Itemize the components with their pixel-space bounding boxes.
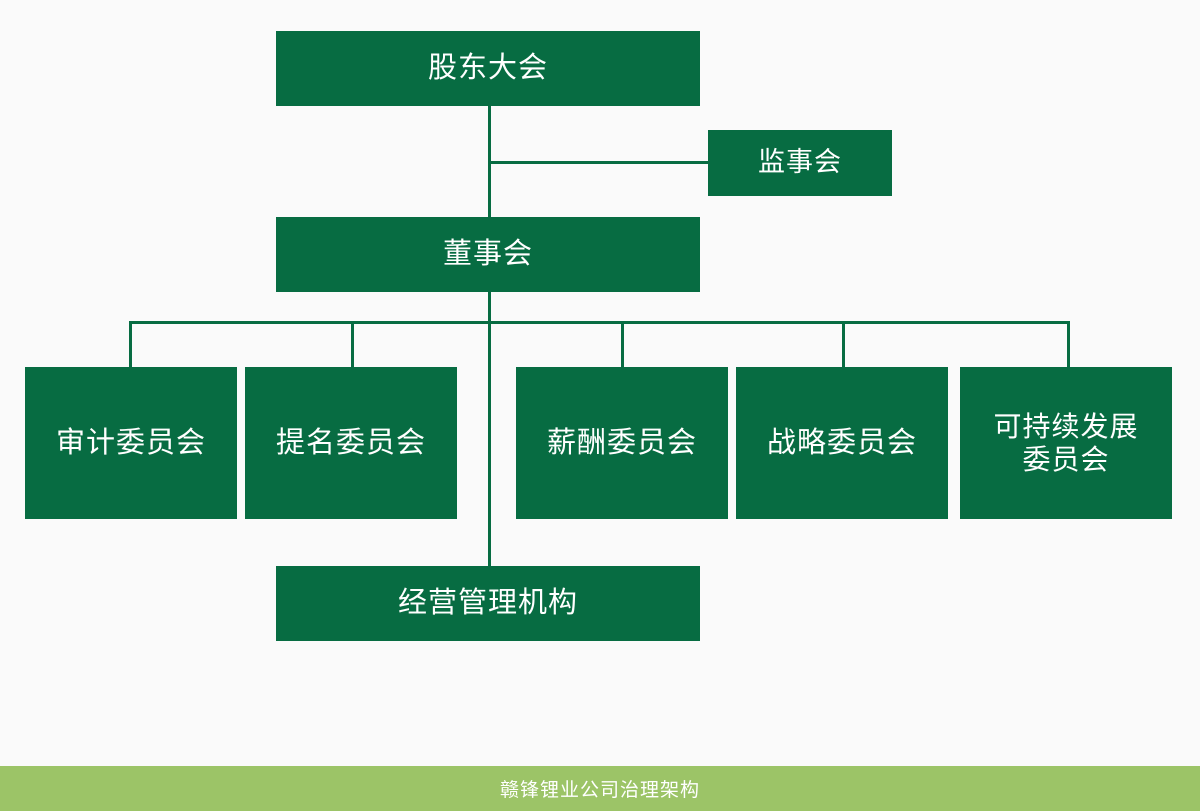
node-management-organization[interactable]: 经营管理机构 [276, 566, 700, 641]
caption-text: 赣锋锂业公司治理架构 [500, 775, 700, 802]
connector-drop-strategy-committee [842, 321, 845, 367]
node-management-organization-label: 经营管理机构 [398, 586, 578, 620]
connector-drop-audit-committee [129, 321, 132, 367]
node-sustainability-committee[interactable]: 可持续发展 委员会 [960, 367, 1172, 519]
connector-drop-sustainability-committee [1067, 321, 1070, 367]
node-strategy-committee-label: 战略委员会 [767, 426, 917, 460]
node-board-of-supervisors-label: 监事会 [758, 147, 842, 179]
node-shareholders-meeting[interactable]: 股东大会 [276, 31, 700, 106]
node-nomination-committee-label: 提名委员会 [276, 426, 426, 460]
node-remuneration-committee-label: 薪酬委员会 [547, 426, 697, 460]
node-audit-committee[interactable]: 审计委员会 [25, 367, 237, 519]
node-audit-committee-label: 审计委员会 [56, 426, 206, 460]
node-board-of-directors-label: 董事会 [443, 237, 533, 271]
node-board-of-supervisors[interactable]: 监事会 [708, 130, 892, 196]
node-sustainability-committee-label: 可持续发展 委员会 [993, 410, 1138, 476]
node-strategy-committee[interactable]: 战略委员会 [736, 367, 948, 519]
diagram-canvas: 股东大会 监事会 董事会 审计委员会 提名委员会 薪酬委员会 战略委员会 可持续… [0, 0, 1200, 766]
connector-board-to-management [488, 292, 491, 566]
caption-bar: 赣锋锂业公司治理架构 [0, 766, 1200, 811]
connector-drop-nomination-committee [351, 321, 354, 367]
node-remuneration-committee[interactable]: 薪酬委员会 [516, 367, 728, 519]
node-board-of-directors[interactable]: 董事会 [276, 217, 700, 292]
connector-drop-remuneration-committee [621, 321, 624, 367]
connector-shareholders-to-supervisors [488, 161, 710, 164]
node-shareholders-meeting-label: 股东大会 [428, 51, 548, 85]
node-nomination-committee[interactable]: 提名委员会 [245, 367, 457, 519]
connector-committee-bus [129, 321, 1070, 324]
org-chart-diagram: 股东大会 监事会 董事会 审计委员会 提名委员会 薪酬委员会 战略委员会 可持续… [0, 0, 1200, 811]
